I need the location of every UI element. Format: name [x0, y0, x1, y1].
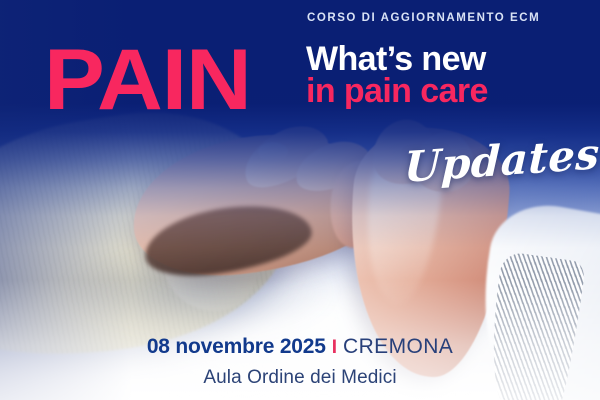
date-city-separator: I [332, 337, 337, 358]
course-kicker: CORSO DI AGGIORNAMENTO ECM [307, 12, 540, 24]
headline: What’s new in pain care [306, 44, 488, 107]
pain-wordmark: PAIN [44, 37, 251, 123]
event-date: 08 novembre 2025 [147, 335, 326, 358]
event-poster: CORSO DI AGGIORNAMENTO ECM PAIN What’s n… [0, 0, 600, 400]
date-city-line: 08 novembre 2025ICREMONA [0, 334, 600, 362]
event-venue: Aula Ordine dei Medici [0, 366, 600, 390]
headline-line-2: in pain care [306, 76, 488, 108]
headline-line-1: What’s new [306, 44, 488, 76]
poster-content: CORSO DI AGGIORNAMENTO ECM PAIN What’s n… [0, 0, 600, 400]
venue-block: 08 novembre 2025ICREMONA Aula Ordine dei… [0, 334, 600, 390]
updates-script-word: Updates [403, 129, 600, 192]
event-city: CREMONA [343, 335, 453, 358]
